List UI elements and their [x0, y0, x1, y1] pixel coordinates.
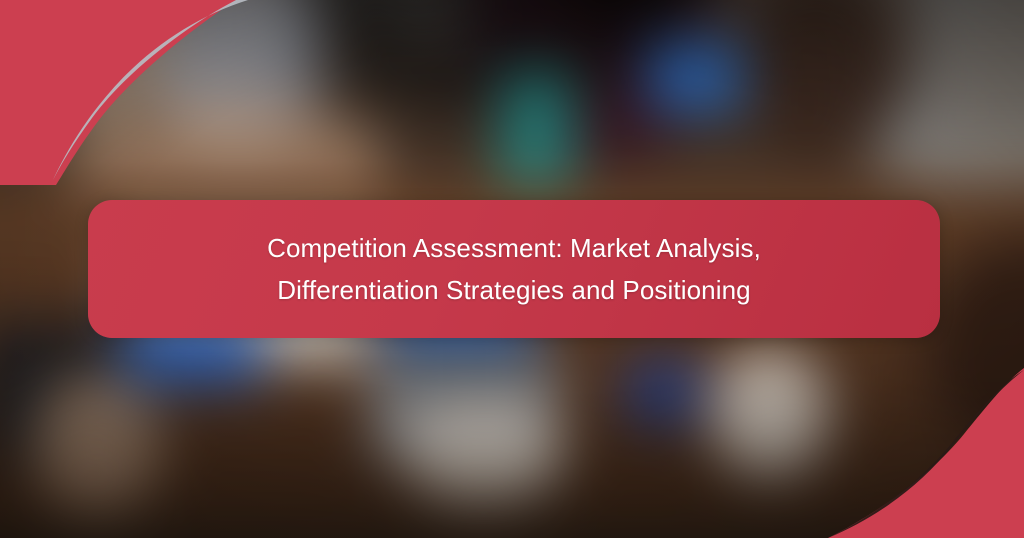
hero-banner-image: Competition Assessment: Market Analysis,…: [0, 0, 1024, 538]
page-title: Competition Assessment: Market Analysis,…: [243, 227, 785, 311]
page-title-line-1: Competition Assessment: Market Analysis,: [267, 233, 761, 263]
title-banner: Competition Assessment: Market Analysis,…: [88, 200, 940, 338]
page-title-line-2: Differentiation Strategies and Positioni…: [277, 275, 750, 305]
